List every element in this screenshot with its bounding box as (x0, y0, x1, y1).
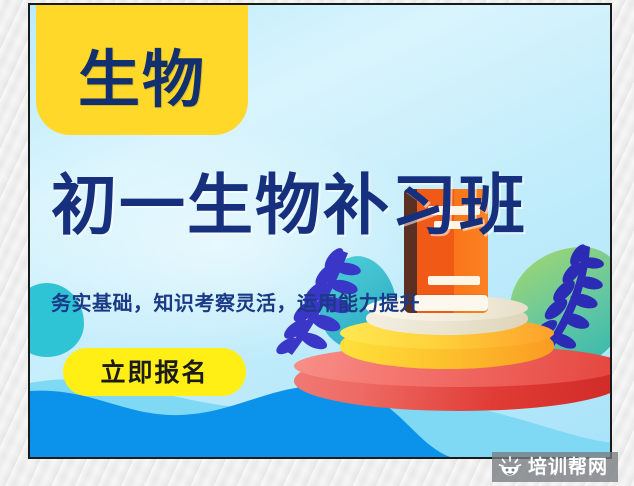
page-title: 初一生物补习班 (51, 173, 527, 239)
book-title-bar-3 (428, 276, 480, 285)
screenshot-canvas: 生物 初一生物补习班 务实基础，知识考察灵活，运用能力提升 立即报名 培训帮网 (0, 0, 634, 486)
site-watermark-label: 培训帮网 (528, 458, 608, 477)
subtitle-text: 务实基础，知识考察灵活，运用能力提升 (51, 293, 420, 313)
course-promo-banner: 生物 初一生物补习班 务实基础，知识考察灵活，运用能力提升 立即报名 (28, 3, 612, 459)
book-pages (414, 295, 488, 311)
sun-smiley-icon (498, 456, 522, 478)
subject-badge: 生物 (36, 3, 248, 135)
subject-badge-label: 生物 (78, 49, 206, 135)
site-watermark: 培训帮网 (492, 452, 618, 482)
enroll-now-button[interactable]: 立即报名 (63, 348, 246, 396)
enroll-now-button-label: 立即报名 (100, 360, 208, 385)
